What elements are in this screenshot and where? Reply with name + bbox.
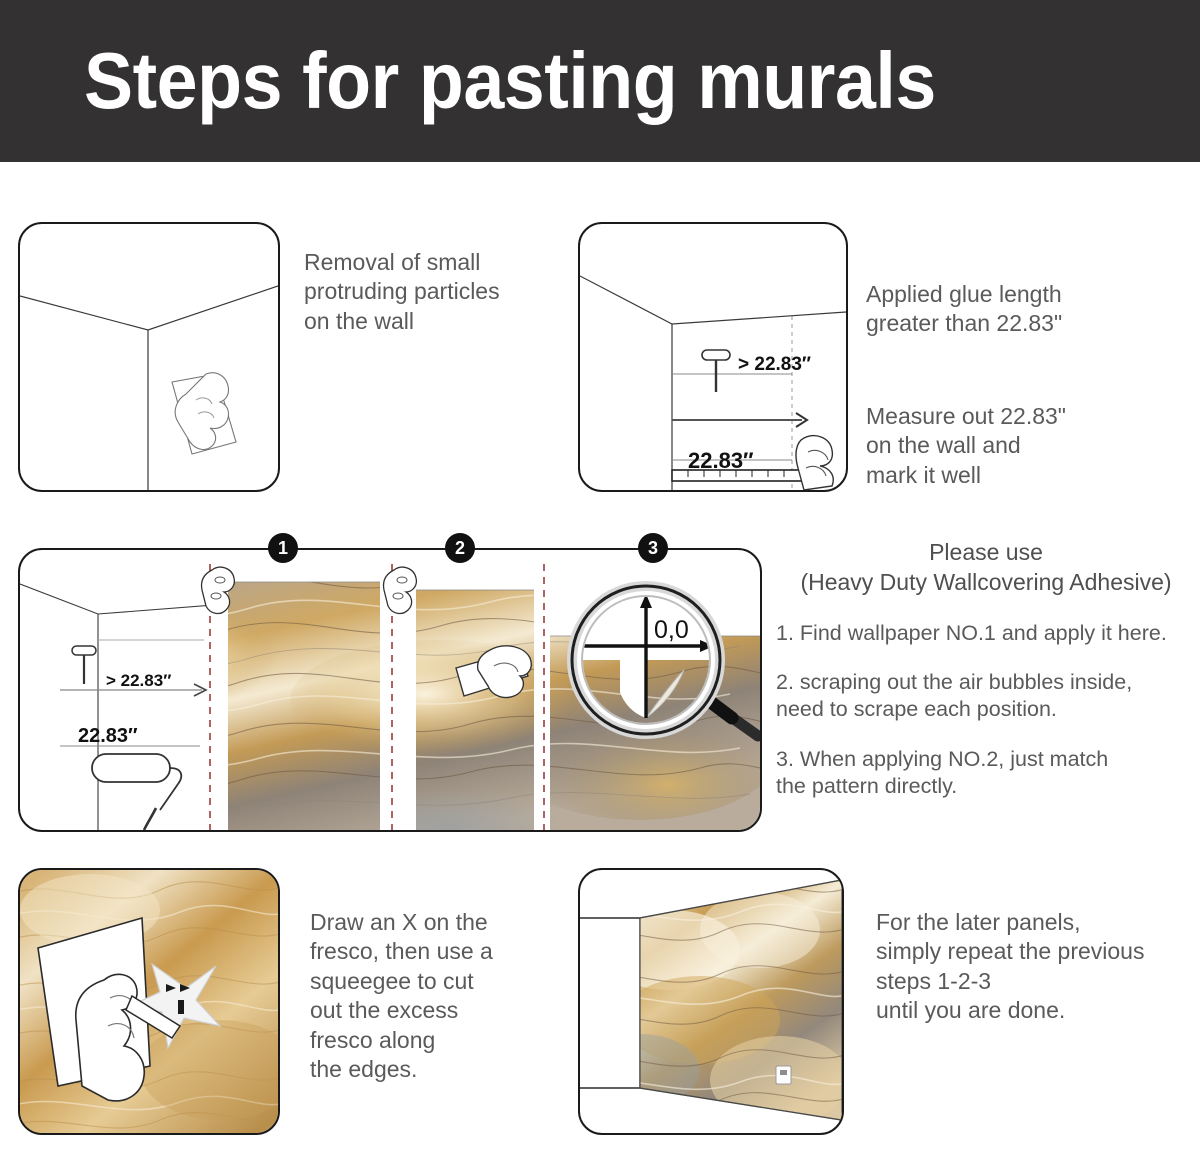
panel-apply-wallpaper: > 22.83″ 22.83″ xyxy=(18,548,762,832)
illustration-wall-corner-sanding xyxy=(20,224,278,490)
caption-repeat-steps: For the later panels, simply repeat the … xyxy=(876,908,1200,1026)
illustration-finished-mural xyxy=(580,870,842,1133)
panel-measure-wall: > 22.83″ 22.83″ xyxy=(578,222,848,492)
panel-remove-particles xyxy=(18,222,280,492)
label-ruler-measure: 22.83″ xyxy=(688,448,754,473)
caption-remove-particles: Removal of small protruding particles on… xyxy=(304,248,564,336)
step-badge-3: 3 xyxy=(638,533,668,563)
label-glue-length: > 22.83″ xyxy=(738,354,811,375)
apply-step-2: 2. scraping out the air bubbles inside, … xyxy=(776,669,1196,724)
step-badge-1: 1 xyxy=(268,533,298,563)
caption-cut-excess: Draw an X on the fresco, then use a sque… xyxy=(310,908,560,1085)
caption-glue-length: Applied glue length greater than 22.83" xyxy=(866,280,1166,339)
step-badge-2: 2 xyxy=(445,533,475,563)
illustration-measure-wall: > 22.83″ 22.83″ xyxy=(580,224,846,490)
page-header: Steps for pasting murals xyxy=(0,0,1200,162)
adhesive-heading: Please use (Heavy Duty Wallcovering Adhe… xyxy=(776,538,1196,598)
apply-instructions: Please use (Heavy Duty Wallcovering Adhe… xyxy=(776,538,1196,800)
caption-measure-mark: Measure out 22.83" on the wall and mark … xyxy=(866,402,1176,490)
apply-step-1: 1. Find wallpaper NO.1 and apply it here… xyxy=(776,620,1196,647)
apply-step-3: 3. When applying NO.2, just match the pa… xyxy=(776,746,1196,801)
illustration-cut-x-outlet xyxy=(20,870,278,1133)
label-origin-coordinate: 0,0 xyxy=(654,616,689,644)
page-title: Steps for pasting murals xyxy=(84,41,936,121)
label-apply-ruler: 22.83″ xyxy=(78,725,138,747)
panel-cut-excess xyxy=(18,868,280,1135)
illustration-apply-sequence: > 22.83″ 22.83″ xyxy=(20,550,760,830)
panel-finished-wall xyxy=(578,868,844,1135)
label-apply-glue-length: > 22.83″ xyxy=(106,671,171,690)
